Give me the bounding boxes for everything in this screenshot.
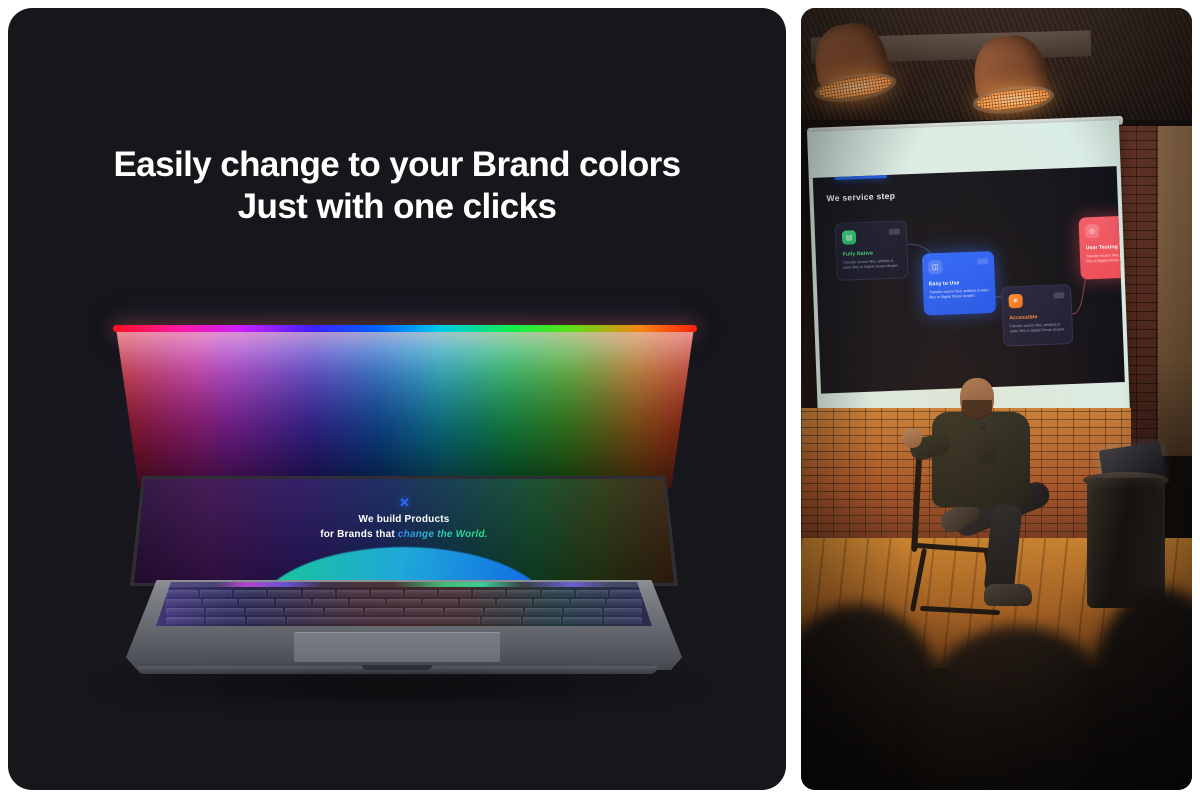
right-photo-panel: We service step ▤ Fully Native Transfer … [801, 8, 1192, 790]
key [405, 608, 443, 615]
key [525, 608, 563, 615]
speaker-beard [962, 400, 992, 419]
key [203, 599, 238, 606]
screen-gradient-dome [254, 547, 554, 583]
spotlight-right [970, 32, 1050, 110]
key [473, 590, 505, 597]
key [542, 590, 574, 597]
card-title: Easy to Use [929, 279, 989, 287]
laptop-screen-tagline: We build Products for Brands that change… [134, 513, 674, 542]
key [607, 599, 642, 606]
key [460, 599, 495, 606]
headline-line-1: Easily change to your Brand colors [114, 145, 681, 184]
key [246, 608, 284, 615]
key [350, 599, 385, 606]
projector-screen: We service step ▤ Fully Native Transfer … [807, 120, 1130, 422]
laptop-mockup: ✕ We build Products for Brands that chan… [8, 318, 786, 688]
touch-bar[interactable] [156, 582, 652, 587]
keyboard-keys[interactable] [166, 590, 642, 624]
card-body: Transfer source files, artifacts & stati… [843, 258, 901, 271]
card-badge [1053, 292, 1064, 298]
slide-card-fully-native[interactable]: ▤ Fully Native Transfer source files, ar… [835, 220, 909, 281]
chair-leg-front [910, 548, 927, 612]
key-row [166, 617, 642, 624]
card-badge [889, 229, 900, 235]
key [365, 608, 403, 615]
tagline-line-2-accent: change the World. [398, 529, 488, 540]
card-title: Fully Native [843, 249, 901, 257]
key [234, 590, 266, 597]
slide-card-accessible[interactable]: ✳ Accessible Transfer source files, arti… [1001, 284, 1073, 347]
key [610, 590, 642, 597]
tagline-line-1: We build Products [359, 514, 450, 525]
headline-line-2: Just with one clicks [8, 186, 786, 228]
mockup-stage: Easily change to your Brand colors Just … [0, 0, 1200, 799]
key [523, 617, 562, 624]
key [405, 590, 437, 597]
key [200, 590, 232, 597]
speaker-hand [902, 428, 922, 448]
key [445, 608, 483, 615]
key [604, 608, 642, 615]
key [206, 617, 245, 624]
key [482, 617, 521, 624]
slide-title: We service step [826, 191, 895, 204]
slide-card-easy-to-use[interactable]: ◫ Easy to Use Transfer source files, art… [922, 251, 996, 316]
key [166, 590, 198, 597]
slide-accent-bar [835, 175, 887, 180]
key [239, 599, 274, 606]
card-title: User Testing [1086, 243, 1125, 251]
tagline-line-2-plain: for Brands that [320, 529, 398, 540]
key [604, 617, 643, 624]
key [337, 590, 369, 597]
key [313, 599, 348, 606]
card-body: Transfer source files, artifacts & stati… [929, 288, 989, 301]
key [268, 590, 300, 597]
card-title: Accessible [1009, 313, 1065, 321]
key [576, 590, 608, 597]
card-body: Transfer source files, artifacts & stati… [1010, 322, 1066, 335]
laptop-lid-shade [116, 328, 694, 488]
key [206, 608, 244, 615]
key [247, 617, 286, 624]
slide-card-user-testing[interactable]: ◎ User Testing Transfer source files, ar… [1078, 215, 1124, 280]
page-title: Easily change to your Brand colors Just … [8, 144, 786, 228]
trackpad[interactable] [294, 632, 500, 662]
key [507, 590, 539, 597]
key [563, 617, 602, 624]
wood-post [1158, 126, 1192, 456]
key [285, 608, 323, 615]
key [497, 599, 532, 606]
laptop-drop-shadow [87, 670, 707, 704]
key [571, 599, 606, 606]
key [303, 590, 335, 597]
card-badge [977, 258, 988, 264]
key [485, 608, 523, 615]
speaker-person [896, 378, 1086, 608]
key [276, 599, 311, 606]
laptop-screen: ✕ We build Products for Brands that chan… [134, 479, 674, 583]
key [287, 617, 480, 624]
presentation-slide: We service step ▤ Fully Native Transfer … [813, 166, 1125, 394]
key-row [166, 590, 642, 597]
cube-icon: ◫ [928, 260, 943, 275]
key [423, 599, 458, 606]
key [534, 599, 569, 606]
key [325, 608, 363, 615]
left-showcase-panel: Easily change to your Brand colors Just … [8, 8, 786, 790]
spotlight-left [810, 19, 892, 99]
gear-icon: ✳ [1008, 294, 1023, 309]
grid-icon: ▤ [842, 230, 857, 245]
key [166, 617, 205, 624]
key [166, 608, 204, 615]
key-row [166, 599, 642, 606]
key [166, 599, 201, 606]
speaker-shoe-lower [984, 584, 1032, 606]
key [371, 590, 403, 597]
laptop-keyboard-well [156, 582, 652, 626]
brand-logo-icon: ✕ [399, 495, 409, 511]
key-row [166, 608, 642, 615]
laptop-lid-rgb-edge [113, 325, 697, 332]
key [564, 608, 602, 615]
target-icon: ◎ [1085, 224, 1100, 239]
key [387, 599, 422, 606]
key [439, 590, 471, 597]
card-body: Transfer source files, artifacts & stati… [1086, 252, 1125, 265]
